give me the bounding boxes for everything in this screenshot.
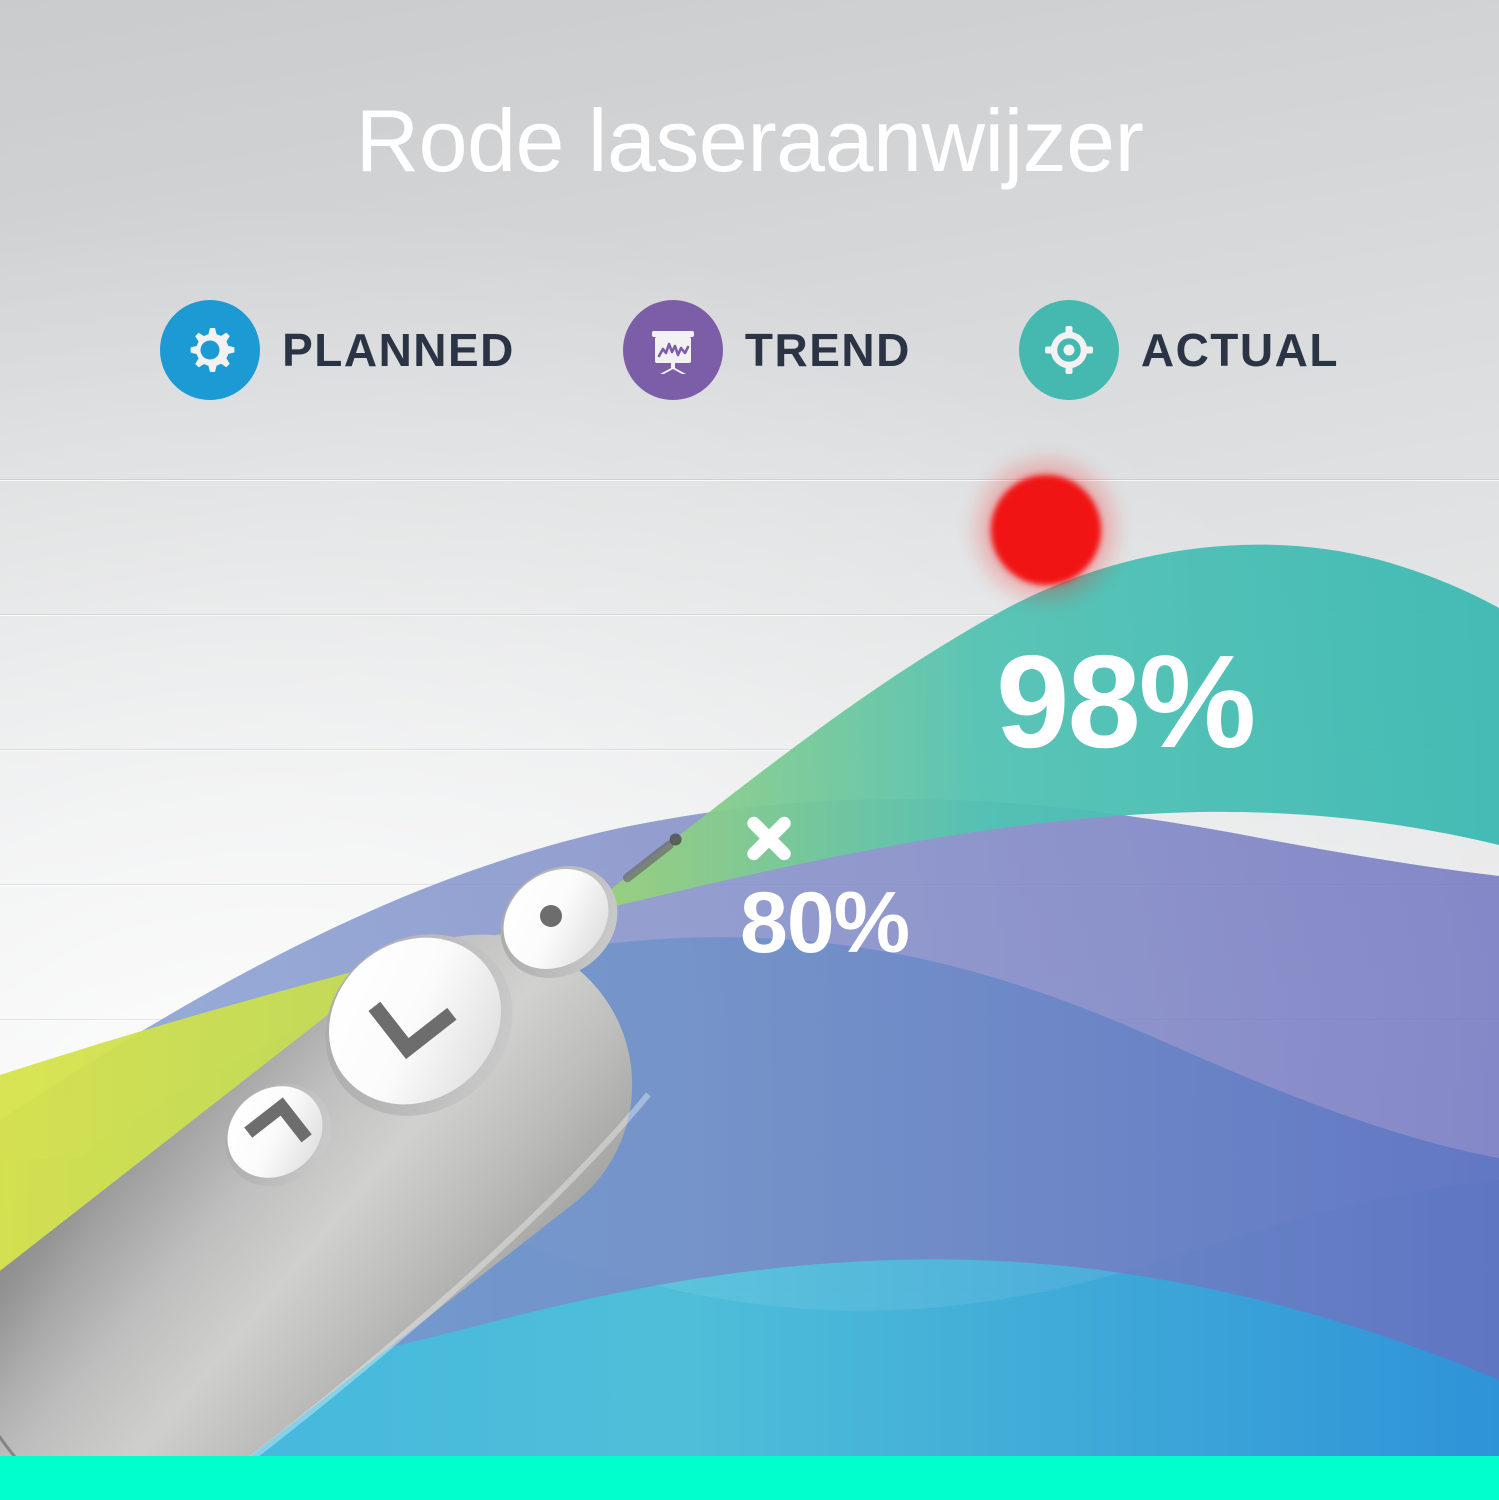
crosshair-target-icon xyxy=(1019,300,1119,400)
bottom-accent-bar xyxy=(0,1456,1499,1500)
area-chart-waves xyxy=(0,0,1499,1500)
laser-dot xyxy=(991,475,1101,585)
legend-label-trend: TREND xyxy=(745,323,911,377)
legend-label-actual: ACTUAL xyxy=(1141,323,1339,377)
actual-value-label: 98% xyxy=(996,636,1254,768)
legend-item-trend: TREND xyxy=(623,300,911,400)
planned-marker-x-icon xyxy=(741,810,797,866)
presentation-chart-icon xyxy=(623,300,723,400)
chart-legend: PLANNED TREND xyxy=(0,300,1499,400)
legend-item-planned: PLANNED xyxy=(160,300,515,400)
planned-value-label: 80% xyxy=(740,880,909,966)
legend-item-actual: ACTUAL xyxy=(1019,300,1339,400)
legend-label-planned: PLANNED xyxy=(282,323,515,377)
product-marketing-image: 98% 80% Rode laseraanwijzer PLANNED xyxy=(0,0,1499,1500)
page-title: Rode laseraanwijzer xyxy=(0,95,1499,187)
gear-icon xyxy=(160,300,260,400)
